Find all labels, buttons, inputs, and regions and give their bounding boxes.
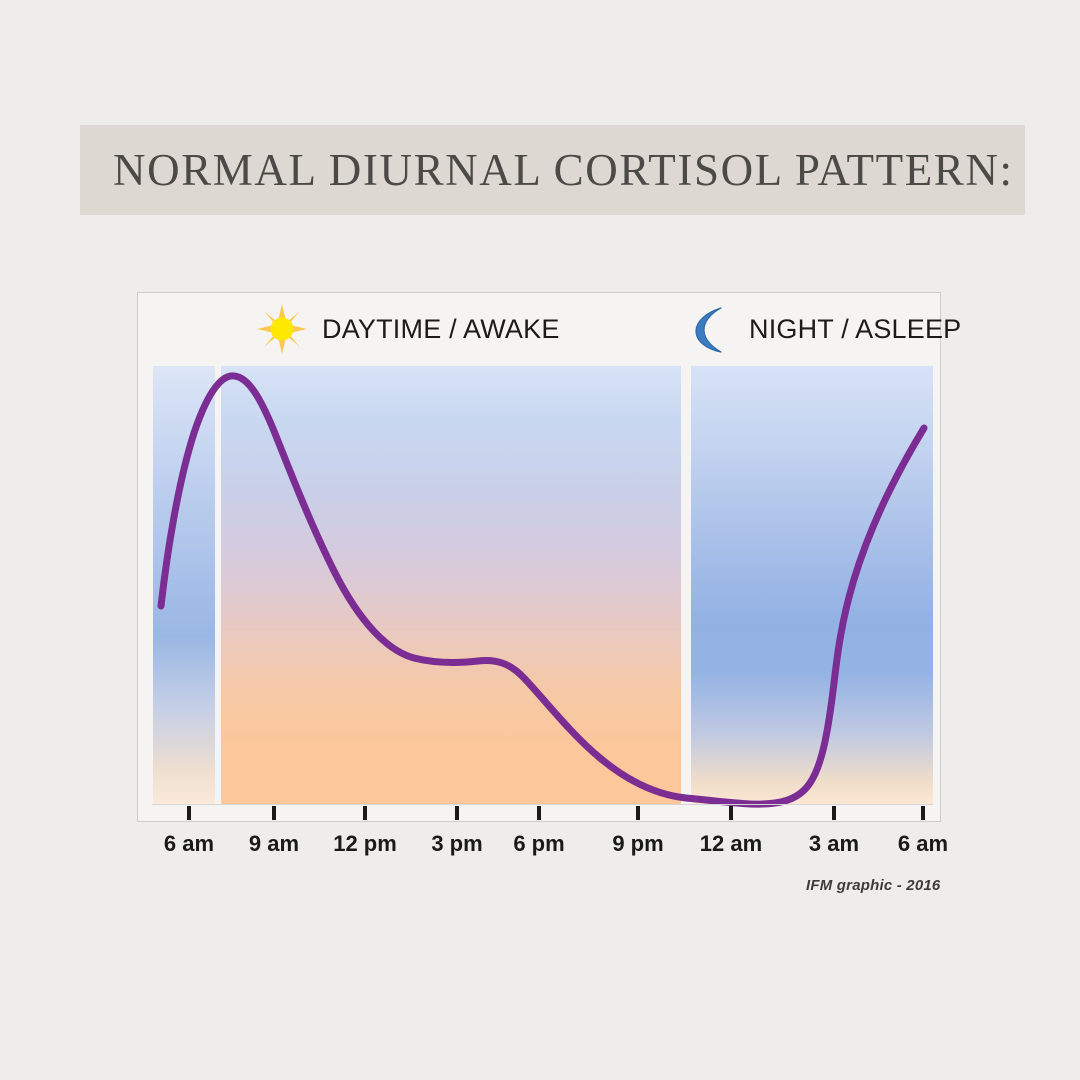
x-axis-tick-label: 12 am xyxy=(700,831,762,857)
x-axis-tick-label: 12 pm xyxy=(333,831,397,857)
x-axis-tick-mark xyxy=(921,806,925,820)
x-axis-tick-mark xyxy=(272,806,276,820)
x-axis-tick-mark xyxy=(729,806,733,820)
x-axis-tick-mark xyxy=(636,806,640,820)
cortisol-curve-line xyxy=(161,376,924,804)
x-axis-tick-mark xyxy=(363,806,367,820)
x-axis-tick-label: 3 am xyxy=(809,831,859,857)
x-axis-tick-label: 6 am xyxy=(164,831,214,857)
cortisol-curve-plot xyxy=(138,293,942,823)
x-axis-tick-label: 9 am xyxy=(249,831,299,857)
x-axis-tick-label: 3 pm xyxy=(431,831,482,857)
x-axis-tick-label: 9 pm xyxy=(612,831,663,857)
x-axis-tick-mark xyxy=(537,806,541,820)
x-axis-tick-label: 6 pm xyxy=(513,831,564,857)
x-axis-tick-mark xyxy=(187,806,191,820)
x-axis-tick-label: 6 am xyxy=(898,831,948,857)
page-title: NORMAL DIURNAL CORTISOL PATTERN: xyxy=(80,148,1014,193)
graphic-credit: IFM graphic - 2016 xyxy=(806,877,940,894)
x-axis-tick-mark xyxy=(832,806,836,820)
cortisol-chart-card: DAYTIME / AWAKE NIGHT / ASLEEP 6 am9 am1… xyxy=(137,292,941,822)
page-title-band: NORMAL DIURNAL CORTISOL PATTERN: xyxy=(80,125,1025,215)
x-axis-line xyxy=(152,804,933,805)
x-axis-tick-mark xyxy=(455,806,459,820)
